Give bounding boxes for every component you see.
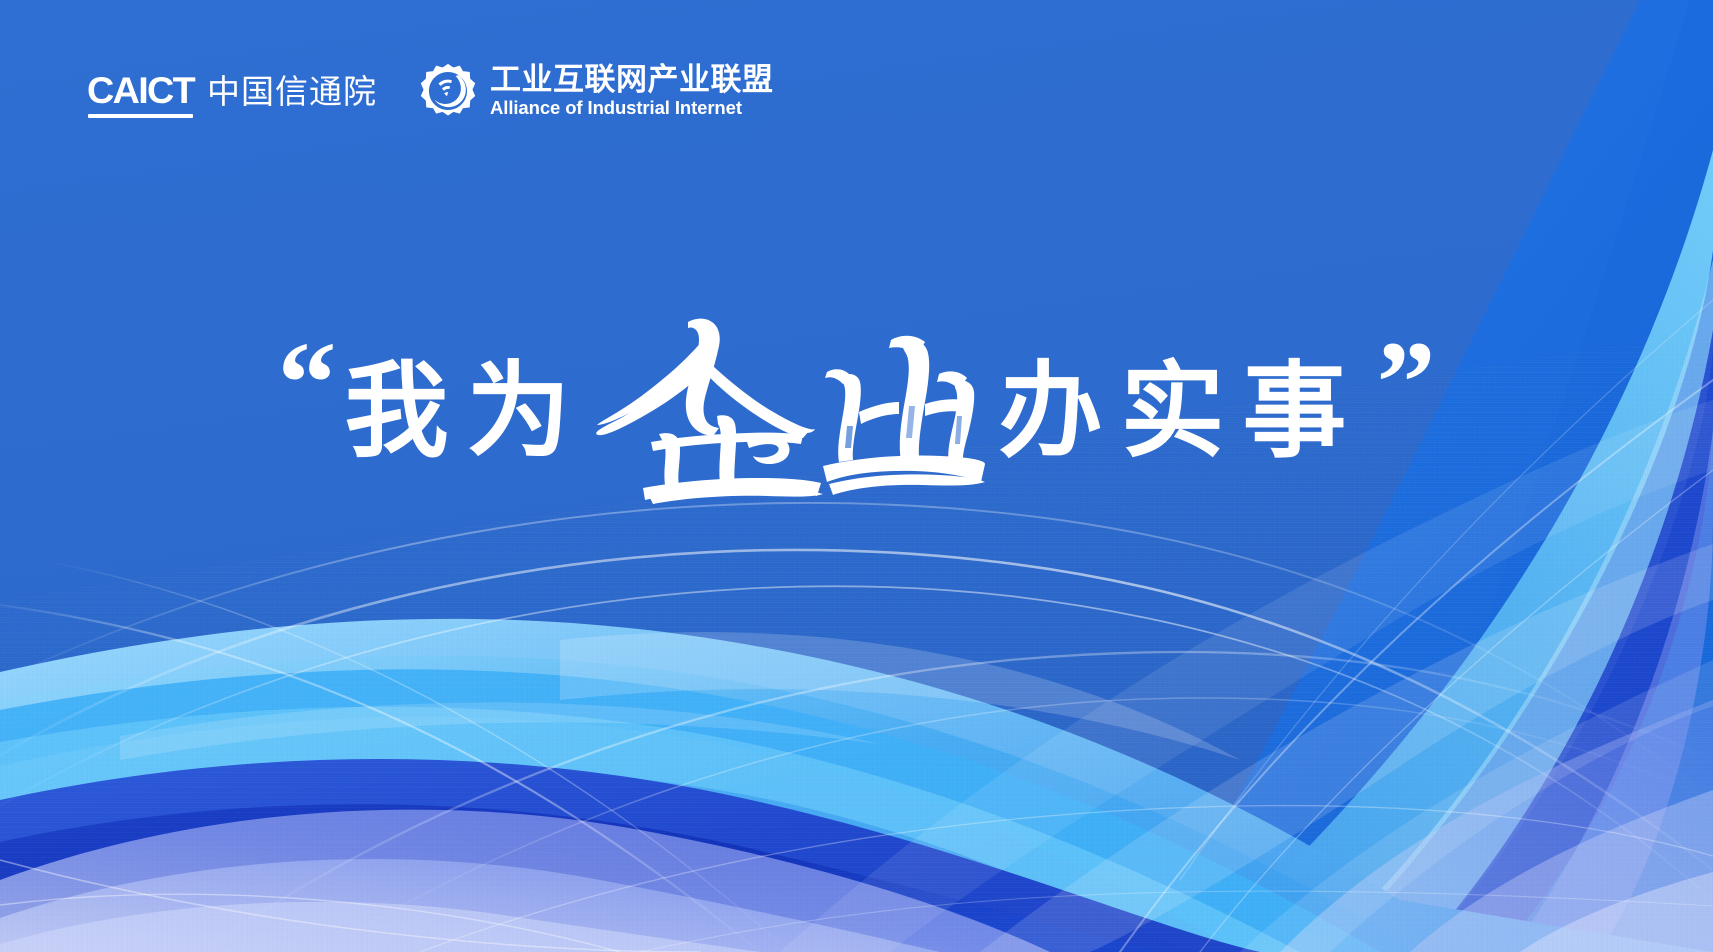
caict-mark: CAICT	[88, 73, 193, 118]
background-artwork	[0, 0, 1713, 952]
gear-wifi-icon	[419, 62, 477, 120]
caict-wordmark: CAICT	[87, 73, 194, 109]
alliance-english-name: Alliance of Industrial Internet	[490, 99, 774, 118]
alliance-text-block: 工业互联网产业联盟 Alliance of Industrial Interne…	[490, 65, 774, 118]
banner-canvas: CAICT 中国信通院 工业互联网产业联盟 Alliance of Indust…	[0, 0, 1713, 952]
logo-caict[interactable]: CAICT 中国信通院	[88, 65, 377, 118]
caict-chinese-name: 中国信通院	[207, 65, 377, 118]
header-logo-bar: CAICT 中国信通院 工业互联网产业联盟 Alliance of Indust…	[88, 62, 774, 120]
alliance-chinese-name: 工业互联网产业联盟	[490, 65, 774, 96]
caict-underline	[88, 114, 193, 118]
logo-alliance-of-industrial-internet[interactable]: 工业互联网产业联盟 Alliance of Industrial Interne…	[419, 62, 774, 120]
